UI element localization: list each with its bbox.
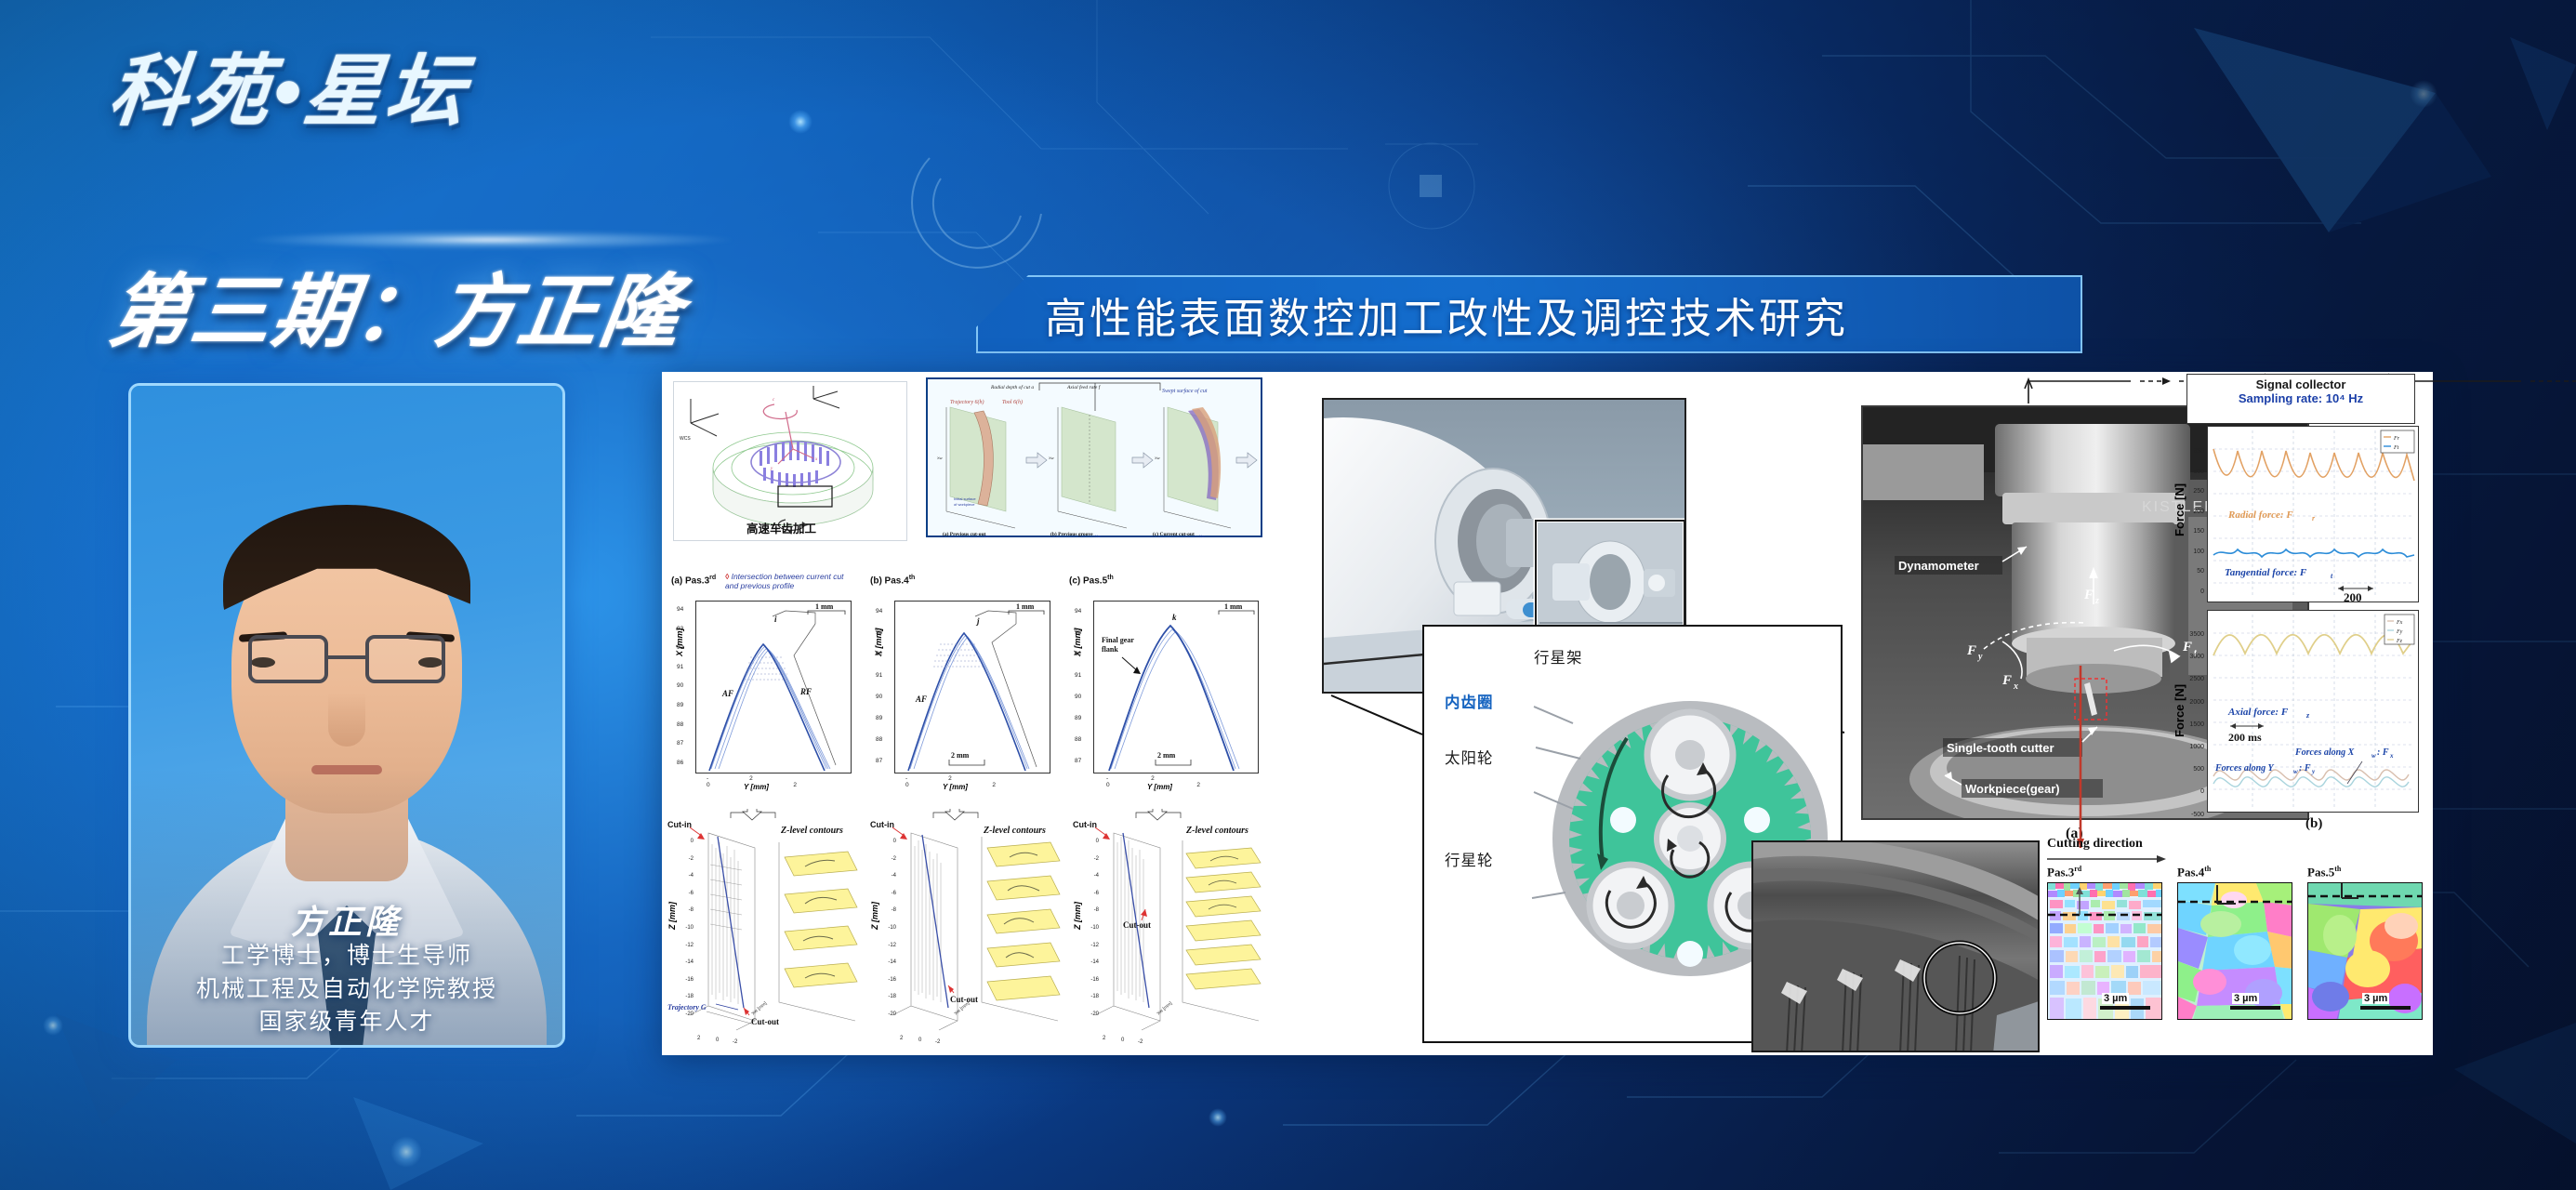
zlevel-svg-a: Z-level contours Trajectory: [666, 809, 866, 1049]
zlevel-chart-row: Cut-in Z-level contours: [666, 809, 1270, 1049]
gear-turning-diagram: WCS: [673, 381, 907, 541]
machined-gear-svg: [1753, 842, 2040, 1052]
cutting-zone-connector: [2062, 666, 2099, 852]
ebsd-panel: Pas.3rd: [2047, 865, 2162, 1020]
scale-label-2: 3 µm: [2232, 993, 2259, 1004]
chart-a-xticks: -2 0 2: [707, 775, 857, 788]
ebsd-map-1: 3 µm: [2047, 882, 2162, 1020]
chart-a-xlabel: Y [mm]: [744, 783, 769, 791]
credential-line: 机械工程及自动化学院教授: [131, 973, 562, 1007]
chart-a-sup: rd: [709, 575, 716, 581]
svg-text:0: 0: [1121, 1038, 1125, 1043]
svg-text:200: 200: [2344, 590, 2362, 603]
signal-collector-title: Signal collector: [2187, 377, 2414, 391]
scale-label-3: 3 µm: [2362, 993, 2389, 1004]
svg-text:Yw: Yw: [1095, 534, 1101, 538]
svg-text:2: 2: [900, 1036, 904, 1041]
cutting-direction-label: Cutting direction: [2047, 837, 2143, 852]
chart-a-svg: 1 mm i AF RF: [696, 602, 852, 774]
svg-text:Xw: Xw: [937, 456, 943, 460]
episode-title: 第三期：方正隆: [103, 270, 688, 356]
svg-text:Axial force: F: Axial force: F: [2227, 707, 2289, 718]
svg-text:1 mm: 1 mm: [1016, 602, 1035, 611]
chart-a-note: Intersection between current cut and pre…: [725, 572, 844, 590]
ebsd-label-3: Pas.5: [2307, 865, 2334, 879]
profile-chart-row: (a) Pas.3rd ◊ Intersection between curre…: [671, 575, 1266, 790]
speaker-credentials: 工学博士，博士生导师 机械工程及自动化学院教授 国家级青年人才: [131, 940, 562, 1039]
svg-text:Single-tooth cutter: Single-tooth cutter: [1947, 741, 2054, 755]
credential-line: 国家级青年人才: [131, 1006, 562, 1039]
force-chart-axial: Axial force: F z 200 ms Forces along X w…: [2207, 610, 2419, 813]
svg-text:-2: -2: [733, 1039, 738, 1045]
ebsd-label-2: Pas.4: [2177, 865, 2204, 879]
svg-text:Xw [mm]: Xw [mm]: [750, 1000, 768, 1016]
speaker-name: 方正隆: [131, 895, 562, 944]
svg-text:x: x: [2389, 752, 2394, 760]
svg-text:AF: AF: [915, 694, 927, 704]
svg-text:c: c: [773, 398, 775, 403]
chart-b-sup: th: [909, 575, 916, 581]
svg-text:Radial depth of cut a: Radial depth of cut a: [990, 384, 1034, 390]
sampling-rate: Sampling rate: 10⁴ Hz: [2187, 391, 2414, 405]
svg-text:Xw [mm]: Xw [mm]: [1156, 1000, 1173, 1016]
svg-text:Forces along X: Forces along X: [2294, 747, 2355, 758]
title-glow: [249, 231, 733, 249]
machined-gear-photo: [1751, 840, 2040, 1052]
zlevel-a-ylabel: Z [mm]: [667, 902, 677, 930]
svg-text:Initial surface: Initial surface: [954, 496, 976, 501]
svg-text:Trajectory 6(h): Trajectory 6(h): [950, 399, 984, 405]
svg-text:i: i: [774, 615, 777, 624]
chart-c-yticks: 9493929190898887: [1075, 601, 1081, 772]
presentation-slide: 科苑•星坛 第三期：方正隆 高性能表面数控加工改性及调控技术研究 方正隆 工学博…: [0, 0, 2576, 1190]
svg-text:Z-level contours: Z-level contours: [983, 826, 1046, 836]
svg-text:-2: -2: [935, 1039, 941, 1045]
svg-text:F: F: [2083, 588, 2094, 602]
svg-text:x: x: [814, 457, 818, 462]
svg-text:Radial force: F: Radial force: F: [2227, 509, 2293, 521]
chart-b-caption: (b) Pas.4: [870, 575, 909, 586]
research-figure-board: WCS: [662, 372, 2433, 1055]
svg-text:Forces along Y: Forces along Y: [2214, 763, 2274, 773]
chart-b-yticks: 9493929190898887: [876, 601, 882, 772]
scale-label-1: 3 µm: [2102, 993, 2129, 1004]
chart-c-sup: th: [1107, 575, 1114, 581]
svg-text:Dynamometer: Dynamometer: [1898, 559, 1979, 573]
svg-text:flank: flank: [1102, 645, 1118, 654]
svg-text:Fz: Fz: [2396, 639, 2403, 644]
zlevel-group: Cut-in Z-level contours: [666, 809, 866, 1049]
svg-text:-2: -2: [1138, 1039, 1143, 1045]
svg-text:200 ms: 200 ms: [2228, 731, 2262, 744]
zlevel-group: Cut-in Z-level contours Cut-out: [1071, 809, 1272, 1049]
svg-text:z: z: [2094, 596, 2099, 606]
scale-bar-3: [2360, 1006, 2411, 1010]
svg-text:Ft: Ft: [2393, 445, 2399, 451]
chart-b-plot: 1 mm j AF 2 mm: [894, 601, 1050, 773]
title-block: 科苑•星坛 第三期：方正隆: [110, 48, 946, 134]
svg-text:Fr: Fr: [2393, 436, 2400, 442]
svg-text:1 mm: 1 mm: [815, 602, 834, 611]
svg-text:t: t: [2331, 572, 2333, 580]
svg-text:2 mm: 2 mm: [1157, 751, 1176, 760]
svg-text:Workpiece(gear): Workpiece(gear): [1965, 782, 2060, 796]
profile-chart-b: (b) Pas.4th: [870, 575, 1056, 790]
gear-label-carrier: 行星架: [1534, 645, 1583, 668]
chip-sim-svg: Radial depth of cut a Axial feed rate f …: [928, 379, 1264, 539]
gear-label-ring: 内齿圈: [1445, 690, 1494, 712]
chart-c-caption: (c) Pas.5: [1069, 575, 1107, 586]
svg-text:(b) Previous groove: (b) Previous groove: [1050, 531, 1093, 537]
zlevel-svg-c: Z-level contours Cut-out: [1071, 809, 1272, 1049]
svg-text:Fy: Fy: [2396, 629, 2403, 635]
chart-c-xlabel: Y [mm]: [1147, 783, 1172, 791]
chart-a-plot: 1 mm i AF RF: [695, 601, 852, 773]
svg-text:Swept surface of cut: Swept surface of cut: [1162, 388, 1208, 394]
svg-text:0: 0: [716, 1038, 720, 1043]
ebsd-map-2: 3 µm: [2177, 882, 2292, 1020]
svg-text:WCS: WCS: [680, 436, 691, 442]
force-bottom-yticks: 3500300025002000150010005000-500: [2182, 624, 2204, 826]
force-chart-radial-tangential: Radial force: F r Tangential force: F t …: [2207, 426, 2419, 602]
ebsd-panel: Pas.5th: [2307, 865, 2423, 1020]
svg-text:k: k: [1172, 613, 1177, 622]
signal-collector-box: Signal collector Sampling rate: 10⁴ Hz: [2186, 374, 2415, 424]
ebsd-sup-2: th: [2204, 865, 2211, 873]
ebsd-map-3: 3 µm: [2307, 882, 2423, 1020]
svg-text:Z-level contours: Z-level contours: [1185, 826, 1248, 836]
chart-b-svg: 1 mm j AF 2 mm: [895, 602, 1051, 774]
zlevel-b-yticks: 0-2-4-6-8-10-12-14-16-18-20: [881, 833, 896, 1024]
chart-a-yticks: 949392919089888786: [677, 601, 683, 773]
chart-c-svg: 1 mm k Final gear flank 2 mm: [1094, 602, 1260, 774]
svg-text:y: y: [2311, 768, 2316, 775]
ebsd-sup-1: rd: [2074, 865, 2081, 873]
svg-text:2 mm: 2 mm: [951, 751, 970, 760]
force-top-yticks: 350300250200150100500: [2186, 442, 2204, 602]
svg-text:Axial feed rate f: Axial feed rate f: [1066, 384, 1102, 390]
zlevel-c-ylabel: Z [mm]: [1073, 902, 1082, 930]
svg-text:F: F: [2001, 673, 2012, 688]
force-top-ylabel: Force [N]: [2173, 483, 2186, 536]
chart-c-plot: 1 mm k Final gear flank 2 mm: [1093, 601, 1259, 773]
svg-text:Final gear: Final gear: [1102, 636, 1134, 644]
svg-text:Yw: Yw: [1199, 534, 1205, 538]
svg-text:j: j: [975, 616, 980, 626]
svg-text:of workpiece: of workpiece: [954, 502, 975, 507]
svg-text:x: x: [2013, 681, 2018, 692]
svg-text:RF: RF: [799, 687, 812, 696]
gear-label-sun: 太阳轮: [1445, 746, 1494, 768]
chart-c-xticks: -2 0 2: [1106, 775, 1264, 788]
process-overview-group: WCS: [669, 377, 1264, 541]
svg-text:Cut-out: Cut-out: [751, 1017, 779, 1026]
svg-text:Z-level contours: Z-level contours: [780, 826, 843, 836]
ebsd-group: Cutting direction Pas.3rd: [2047, 837, 2428, 1052]
svg-text:(c) Current cut-out: (c) Current cut-out: [1153, 531, 1195, 537]
ebsd-label-1: Pas.3: [2047, 865, 2074, 879]
profile-chart-a: (a) Pas.3rd ◊ Intersection between curre…: [671, 575, 857, 790]
profile-chart-c: (c) Pas.5th 1 mm k Final: [1069, 575, 1264, 790]
svg-text:w: w: [2371, 752, 2376, 760]
chart-b-xticks: -2 0 2: [905, 775, 1056, 788]
scale-bar-2: [2230, 1006, 2280, 1010]
svg-text:z: z: [2305, 711, 2310, 720]
svg-text:AF: AF: [721, 689, 733, 698]
svg-text:Fx: Fx: [2396, 620, 2403, 626]
ebsd-panel: Pas.4th: [2177, 865, 2292, 1020]
zlevel-c-yticks: 0-2-4-6-8-10-12-14-16-18-20: [1084, 833, 1099, 1024]
svg-text:: F: : F: [2299, 763, 2311, 773]
svg-text:2: 2: [1103, 1036, 1106, 1041]
force-chart-bottom-svg: Axial force: F z 200 ms Forces along X w…: [2208, 611, 2420, 813]
svg-text:(a) Previous cut-out: (a) Previous cut-out: [943, 531, 986, 537]
speaker-portrait-card: 方正隆 工学博士，博士生导师 机械工程及自动化学院教授 国家级青年人才: [128, 383, 565, 1048]
chart-a-caption: (a) Pas.3: [671, 575, 709, 586]
svg-text:Cut-out: Cut-out: [1123, 920, 1151, 930]
svg-text:r: r: [2312, 514, 2316, 522]
zlevel-group: Cut-in Z-level contours Cut-out: [868, 809, 1069, 1049]
svg-text:Tangential force: F: Tangential force: F: [2225, 567, 2307, 578]
cutting-direction-arrow-icon: [2047, 853, 2168, 865]
scale-bar-1: [2100, 1006, 2150, 1010]
svg-text:F: F: [1966, 643, 1976, 658]
chip-shape-simulation-box: Radial depth of cut a Axial feed rate f …: [926, 377, 1262, 537]
zlevel-b-ylabel: Z [mm]: [870, 902, 879, 930]
svg-text:Tool 6(h): Tool 6(h): [1002, 399, 1023, 405]
credential-line: 工学博士，博士生导师: [131, 940, 562, 973]
force-chart-caption: (b): [2305, 816, 2322, 832]
svg-text:Xw: Xw: [1049, 456, 1054, 460]
zlevel-a-yticks: 0-2-4-6-8-10-12-14-16-18-20: [679, 833, 694, 1024]
series-title: 科苑•星坛: [105, 48, 951, 134]
svg-text:0: 0: [918, 1038, 922, 1043]
svg-text:1 mm: 1 mm: [1224, 602, 1243, 611]
chart-b-xlabel: Y [mm]: [943, 783, 968, 791]
zlevel-svg-b: Z-level contours Cut-out: [868, 809, 1069, 1049]
svg-text:y: y: [1977, 652, 1983, 662]
topic-banner: 高性能表面数控加工改性及调控技术研究: [976, 275, 2082, 353]
svg-text:: F: : F: [2377, 747, 2389, 758]
force-chart-top-svg: Radial force: F r Tangential force: F t …: [2208, 427, 2420, 603]
process-caption-left: 高速车齿加工: [746, 519, 816, 536]
svg-text:Xw: Xw: [1155, 456, 1160, 460]
ebsd-sup-3: th: [2334, 865, 2341, 873]
svg-text:2: 2: [697, 1036, 701, 1041]
gear-label-planet: 行星轮: [1445, 848, 1494, 870]
topic-text: 高性能表面数控加工改性及调控技术研究: [978, 284, 1848, 345]
svg-text:w: w: [2293, 768, 2298, 775]
